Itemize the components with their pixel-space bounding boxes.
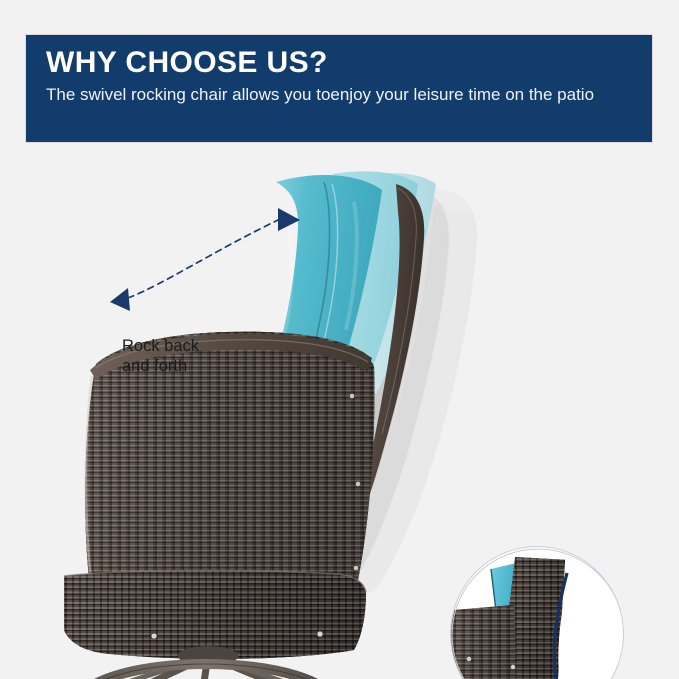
rock-motion-arrow xyxy=(100,180,320,330)
page-title: WHY CHOOSE US? xyxy=(46,45,632,81)
arrowhead-right xyxy=(278,208,300,231)
product-feature-image: WHY CHOOSE US? The swivel rocking chair … xyxy=(0,0,679,679)
page-subtitle: The swivel rocking chair allows you toen… xyxy=(46,84,632,106)
product-scene: Rock back and forth xyxy=(0,150,679,679)
header-banner: WHY CHOOSE US? The swivel rocking chair … xyxy=(25,34,653,143)
rock-motion-label: Rock back and forth xyxy=(122,336,199,376)
arrowhead-left xyxy=(110,288,130,311)
chair-swivel-base xyxy=(44,638,364,679)
